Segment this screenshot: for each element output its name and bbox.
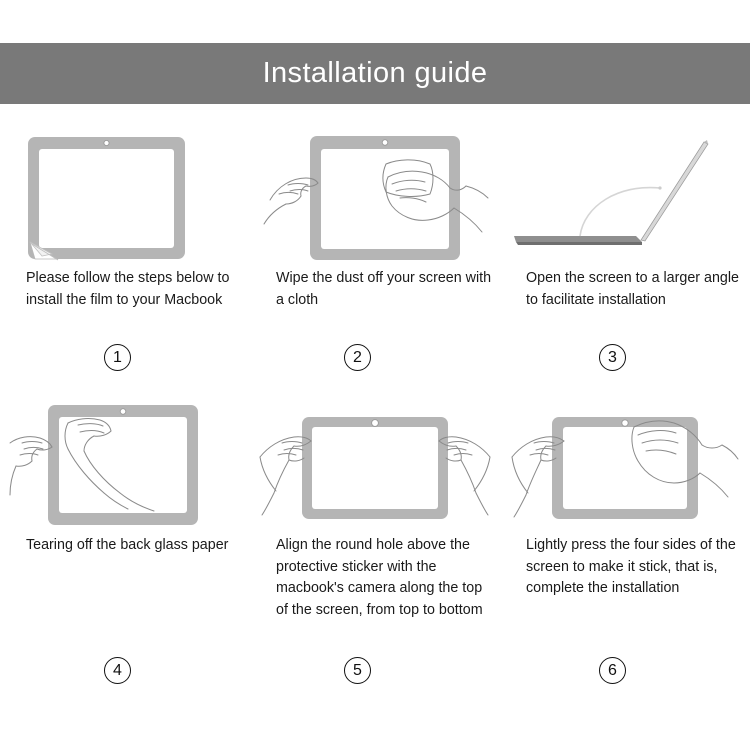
step-4-caption: Tearing off the back glass paper xyxy=(0,535,250,645)
steps-row-bottom: Tearing off the back glass paper 4 xyxy=(0,395,750,684)
step-number-badge: 6 xyxy=(599,657,626,684)
header-banner: Installation guide xyxy=(0,43,750,104)
step-5-illustration xyxy=(258,395,493,535)
step-5-number-wrap: 5 xyxy=(250,657,500,684)
step-number-badge: 2 xyxy=(344,344,371,371)
step-2-caption: Wipe the dust off your screen with a clo… xyxy=(250,268,500,334)
step-1-caption: Please follow the steps below to install… xyxy=(0,268,250,334)
step-card-4: Tearing off the back glass paper 4 xyxy=(0,395,250,684)
page-title: Installation guide xyxy=(263,59,488,88)
step-number-badge: 5 xyxy=(344,657,371,684)
hands-tearing-back-paper-icon xyxy=(8,395,243,535)
laptop-open-angle-icon xyxy=(508,128,743,268)
step-2-number-wrap: 2 xyxy=(250,344,500,371)
step-card-5: Align the round hole above the protectiv… xyxy=(250,395,500,684)
step-6-illustration xyxy=(508,395,743,535)
steps-row-top: Please follow the steps below to install… xyxy=(0,128,750,371)
step-4-number-wrap: 4 xyxy=(0,657,250,684)
installation-guide-page: Installation guide xyxy=(0,0,750,750)
two-hands-aligning-film-icon xyxy=(258,395,493,535)
step-6-caption: Lightly press the four sides of the scre… xyxy=(500,535,750,645)
step-3-illustration xyxy=(508,128,743,268)
screen-with-peeling-film-icon xyxy=(8,128,243,268)
hand-pressing-film-icon xyxy=(508,395,743,535)
step-5-caption: Align the round hole above the protectiv… xyxy=(250,535,500,645)
step-card-6: Lightly press the four sides of the scre… xyxy=(500,395,750,684)
step-card-3: Open the screen to a larger angle to fac… xyxy=(500,128,750,371)
step-card-1: Please follow the steps below to install… xyxy=(0,128,250,371)
step-3-caption: Open the screen to a larger angle to fac… xyxy=(500,268,750,334)
step-number-badge: 3 xyxy=(599,344,626,371)
step-number-badge: 1 xyxy=(104,344,131,371)
step-6-number-wrap: 6 xyxy=(500,657,750,684)
step-2-illustration xyxy=(258,128,493,268)
step-4-illustration xyxy=(8,395,243,535)
step-card-2: Wipe the dust off your screen with a clo… xyxy=(250,128,500,371)
step-1-number-wrap: 1 xyxy=(0,344,250,371)
hands-wiping-screen-icon xyxy=(258,128,493,268)
step-3-number-wrap: 3 xyxy=(500,344,750,371)
step-number-badge: 4 xyxy=(104,657,131,684)
steps-grid: Please follow the steps below to install… xyxy=(0,128,750,684)
step-1-illustration xyxy=(8,128,243,268)
